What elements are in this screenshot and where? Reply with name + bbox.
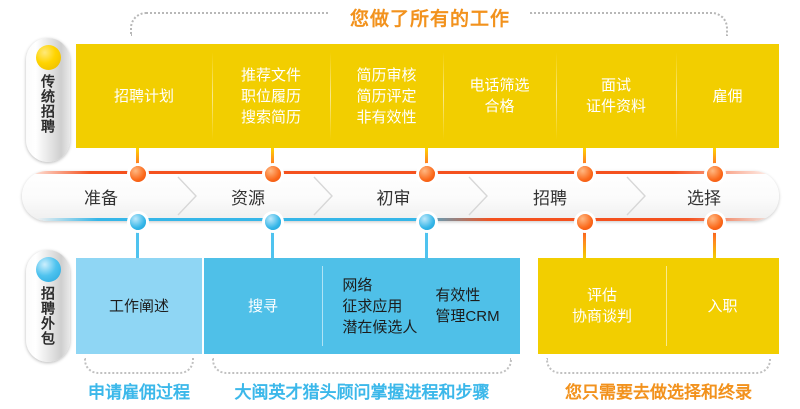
caption-you-only-choose: 您只需要去做选择和终录 — [536, 378, 781, 403]
bottom-cell-assess-line-2: 协商谈判 — [572, 306, 632, 327]
rail-stage-recruit-label: 招聘 — [533, 184, 567, 209]
bottom-box-prepare: 工作阐述 — [76, 258, 202, 354]
top-cell-plan-line-1: 招聘计划 — [114, 86, 174, 107]
top-cell-phone-screen: 电话筛选 合格 — [443, 44, 556, 148]
rail-knob-top-screen — [419, 166, 435, 182]
rail-knob-bottom-select — [707, 214, 723, 230]
screen-col1-line-1: 网络 — [342, 275, 417, 296]
top-cell-hire-line-1: 雇佣 — [712, 86, 742, 107]
top-cell-screening-line-3: 非有效性 — [356, 107, 416, 128]
rail-knob-bottom-screen — [419, 214, 435, 230]
top-cell-phone-screen-line-2: 合格 — [484, 96, 514, 117]
top-cell-plan: 招聘计划 — [76, 44, 212, 148]
connector-bottom-prepare — [136, 228, 139, 258]
connector-bottom-screen — [425, 228, 428, 258]
bottom-box-source-screen: 搜寻 网络 征求应用 潜在候选人 有效性 管理CRM — [204, 258, 520, 354]
top-cell-screening-line-1: 简历审核 — [356, 65, 416, 86]
top-cell-screening: 简历审核 简历评定 非有效性 — [330, 44, 443, 148]
rail-stage-resource-label: 资源 — [231, 184, 265, 209]
connector-bottom-hire — [583, 228, 586, 258]
top-cell-interview-line-1: 面试 — [601, 75, 631, 96]
top-cell-sourcing-line-2: 职位履历 — [241, 86, 301, 107]
rail-stage-prepare-label: 准备 — [84, 184, 118, 209]
side-badge-outsource: 招聘外包 — [26, 250, 70, 362]
top-cell-screening-line-2: 简历评定 — [356, 86, 416, 107]
bottom-cell-search: 搜寻 — [204, 258, 322, 354]
screen-col1-line-2: 征求应用 — [342, 296, 417, 317]
connector-bottom-select — [713, 228, 716, 258]
rail-stage-prepare[interactable]: 准备 — [22, 171, 180, 221]
screen-col2-line-2: 管理CRM — [435, 306, 499, 327]
rail-knob-bottom-hire — [577, 214, 593, 230]
side-badge-traditional: 传统招聘 — [26, 38, 70, 162]
side-badge-traditional-label: 传统招聘 — [40, 74, 56, 134]
caption-brace-2 — [212, 358, 512, 374]
bottom-cell-assess: 评估 协商谈判 — [538, 258, 666, 354]
top-cell-sourcing-line-1: 推荐文件 — [241, 65, 301, 86]
top-cell-interview: 面试 证件资料 — [556, 44, 676, 148]
bottom-box-hire-select: 评估 协商谈判 入职 — [538, 258, 779, 354]
rail-stage-recruit[interactable]: 招聘 — [471, 171, 629, 221]
rail-knob-top-resource — [265, 166, 281, 182]
top-cell-phone-screen-line-1: 电话筛选 — [469, 75, 529, 96]
caption-consultant-manages: 大闽英才猎头顾问掌握进程和步骤 — [212, 378, 512, 403]
rail-stage-initial-review-label: 初审 — [377, 184, 411, 209]
headline-brace-right — [530, 12, 728, 36]
rail-stage-initial-review[interactable]: 初审 — [316, 171, 471, 221]
screen-col2-line-1: 有效性 — [435, 285, 499, 306]
top-cell-sourcing-line-3: 搜索简历 — [241, 107, 301, 128]
rail-stage-resource[interactable]: 资源 — [180, 171, 316, 221]
bottom-cell-screen-col-1: 网络 征求应用 潜在候选人 — [342, 275, 417, 338]
connector-bottom-resource — [271, 228, 274, 258]
yellow-dot-icon — [36, 45, 61, 70]
bottom-cell-onboard: 入职 — [666, 258, 779, 354]
caption-brace-1 — [84, 358, 194, 374]
bottom-cell-job-brief-line-1: 工作阐述 — [109, 296, 169, 317]
traditional-process-band: 招聘计划 推荐文件 职位履历 搜索简历 简历审核 简历评定 非有效性 电话筛选 … — [76, 44, 779, 148]
headline-brace-left — [130, 12, 328, 36]
screen-col1-line-3: 潜在候选人 — [342, 317, 417, 338]
bottom-cell-assess-line-1: 评估 — [587, 285, 617, 306]
top-cell-interview-line-2: 证件资料 — [586, 96, 646, 117]
caption-brace-3 — [546, 358, 771, 374]
bottom-cell-job-brief: 工作阐述 — [76, 258, 202, 354]
top-cell-sourcing: 推荐文件 职位履历 搜索简历 — [212, 44, 330, 148]
rail-knob-top-hire — [577, 166, 593, 182]
rail-knob-top-prepare — [130, 166, 146, 182]
rail-knob-top-select — [707, 166, 723, 182]
blue-dot-icon — [36, 257, 61, 282]
rail-stage-select[interactable]: 选择 — [629, 171, 779, 221]
bottom-cell-screen-detail: 网络 征求应用 潜在候选人 有效性 管理CRM — [322, 258, 520, 354]
rail-knob-bottom-prepare — [130, 214, 146, 230]
headline-title: 您做了所有的工作 — [330, 2, 530, 32]
bottom-cell-screen-col-2: 有效性 管理CRM — [435, 285, 499, 327]
top-cell-hire: 雇佣 — [676, 44, 779, 148]
rail-knob-bottom-resource — [265, 214, 281, 230]
side-badge-outsource-label: 招聘外包 — [40, 286, 56, 346]
infographic-canvas: 您做了所有的工作 传统招聘 招聘外包 招聘计划 推荐文件 职位履历 搜索简历 简… — [0, 0, 800, 409]
caption-apply-process: 申请雇佣过程 — [64, 378, 214, 403]
bottom-cell-search-line-1: 搜寻 — [248, 296, 278, 317]
bottom-cell-onboard-line-1: 入职 — [707, 296, 737, 317]
rail-stage-select-label: 选择 — [687, 184, 721, 209]
